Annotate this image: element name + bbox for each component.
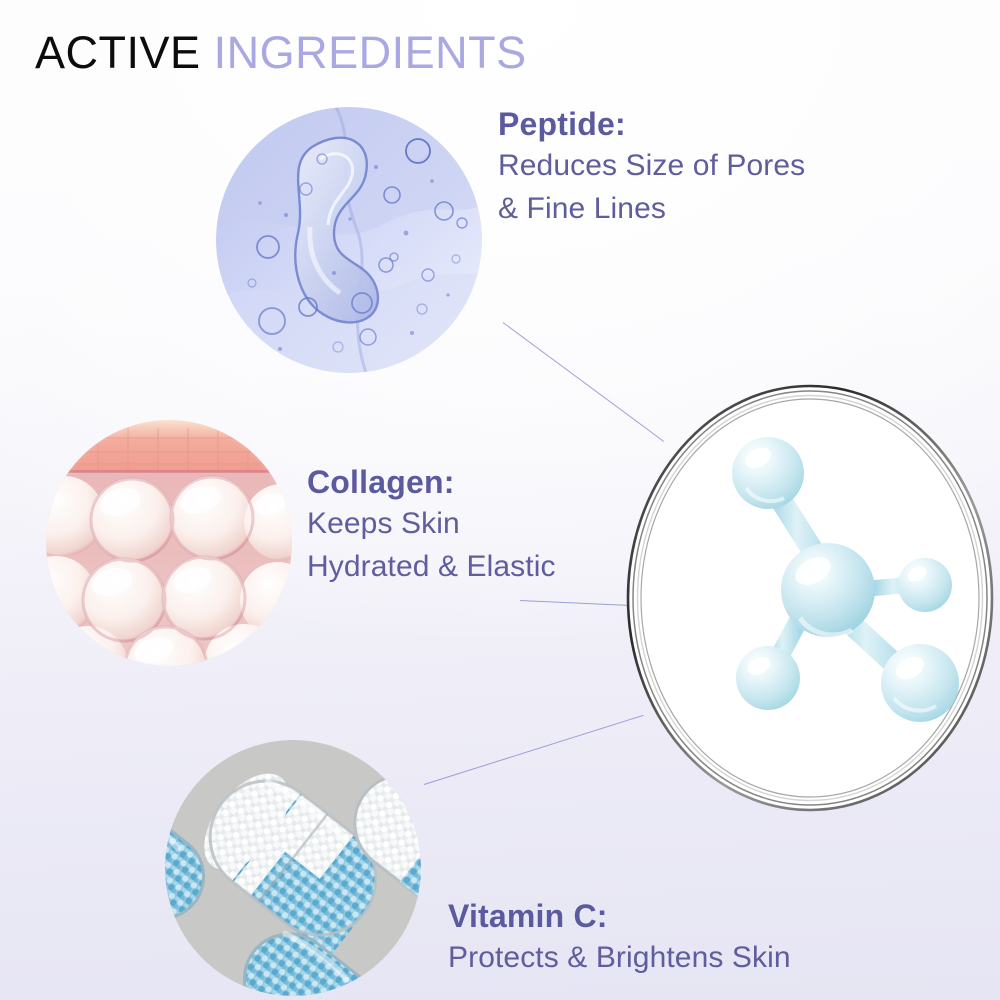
page-title: ACTIVE INGREDIENTS bbox=[35, 30, 527, 75]
connector-line-vitaminc bbox=[424, 715, 644, 785]
collagen-callout: Collagen: Keeps Skin Hydrated & Elastic bbox=[307, 462, 556, 588]
peptide-image-circle bbox=[216, 107, 482, 373]
collagen-image-circle bbox=[46, 420, 292, 666]
vitamin-c-heading: Vitamin C: bbox=[448, 896, 791, 937]
title-word-active: ACTIVE bbox=[35, 27, 201, 78]
vitamin-c-callout: Vitamin C: Protects & Brightens Skin bbox=[448, 896, 791, 980]
collagen-line-1: Keeps Skin bbox=[307, 503, 556, 546]
collagen-heading: Collagen: bbox=[307, 462, 556, 503]
peptide-line-1: Reduces Size of Pores bbox=[498, 145, 805, 188]
title-word-ingredients: INGREDIENTS bbox=[214, 27, 527, 78]
vitamin-c-line-1: Protects & Brightens Skin bbox=[448, 937, 791, 980]
collagen-line-2: Hydrated & Elastic bbox=[307, 546, 556, 589]
infographic-canvas: ACTIVE INGREDIENTS bbox=[0, 0, 1000, 1000]
vitamin-c-image-circle bbox=[165, 740, 421, 996]
peptide-callout: Peptide: Reduces Size of Pores & Fine Li… bbox=[498, 104, 805, 230]
peptide-line-2: & Fine Lines bbox=[498, 188, 805, 231]
peptide-heading: Peptide: bbox=[498, 104, 805, 145]
molecule-image-circle bbox=[620, 378, 1000, 818]
